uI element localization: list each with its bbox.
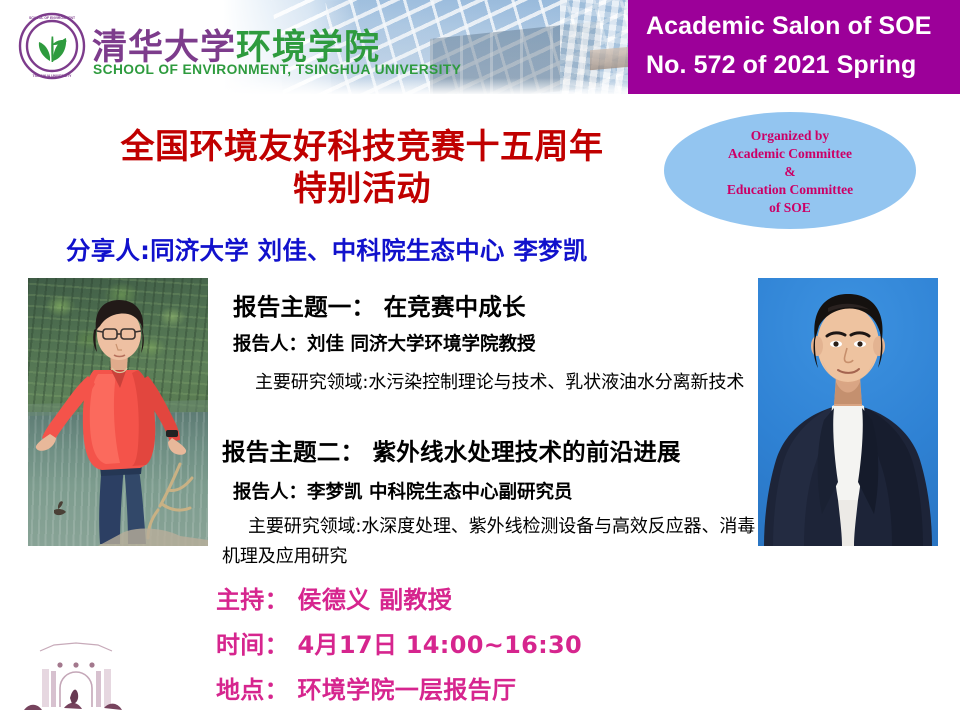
- tsinghua-second-gate-icon: [6, 632, 146, 720]
- talk-1-topic: 报告主题一： 在竞赛中成长: [233, 288, 526, 322]
- place-line: 地点： 环境学院一层报告厅: [216, 670, 516, 705]
- talk-1-speaker: 报告人：刘佳 同济大学环境学院教授: [233, 330, 535, 356]
- talk-2-speaker: 报告人：李梦凯 中科院生态中心副研究员: [233, 478, 572, 504]
- talk-2-topic: 报告主题二： 紫外线水处理技术的前沿进展: [222, 433, 681, 467]
- poster-canvas: SCHOOL OF ENVIRONMENT TSINGHUA UNIVERSIT…: [0, 0, 960, 720]
- talk-1-field: 主要研究领域:水污染控制理论与技术、乳状液油水分离新技术: [233, 368, 761, 398]
- talk-2-field: 主要研究领域:水深度处理、紫外线检测设备与高效反应器、消毒机理及应用研究: [222, 512, 760, 572]
- host-line: 主持： 侯德义 副教授: [216, 580, 452, 615]
- time-line: 时间： 4月17日 14:00~16:30: [216, 625, 582, 660]
- talks-section: 报告主题一： 在竞赛中成长 报告人：刘佳 同济大学环境学院教授 主要研究领域:水…: [0, 0, 960, 720]
